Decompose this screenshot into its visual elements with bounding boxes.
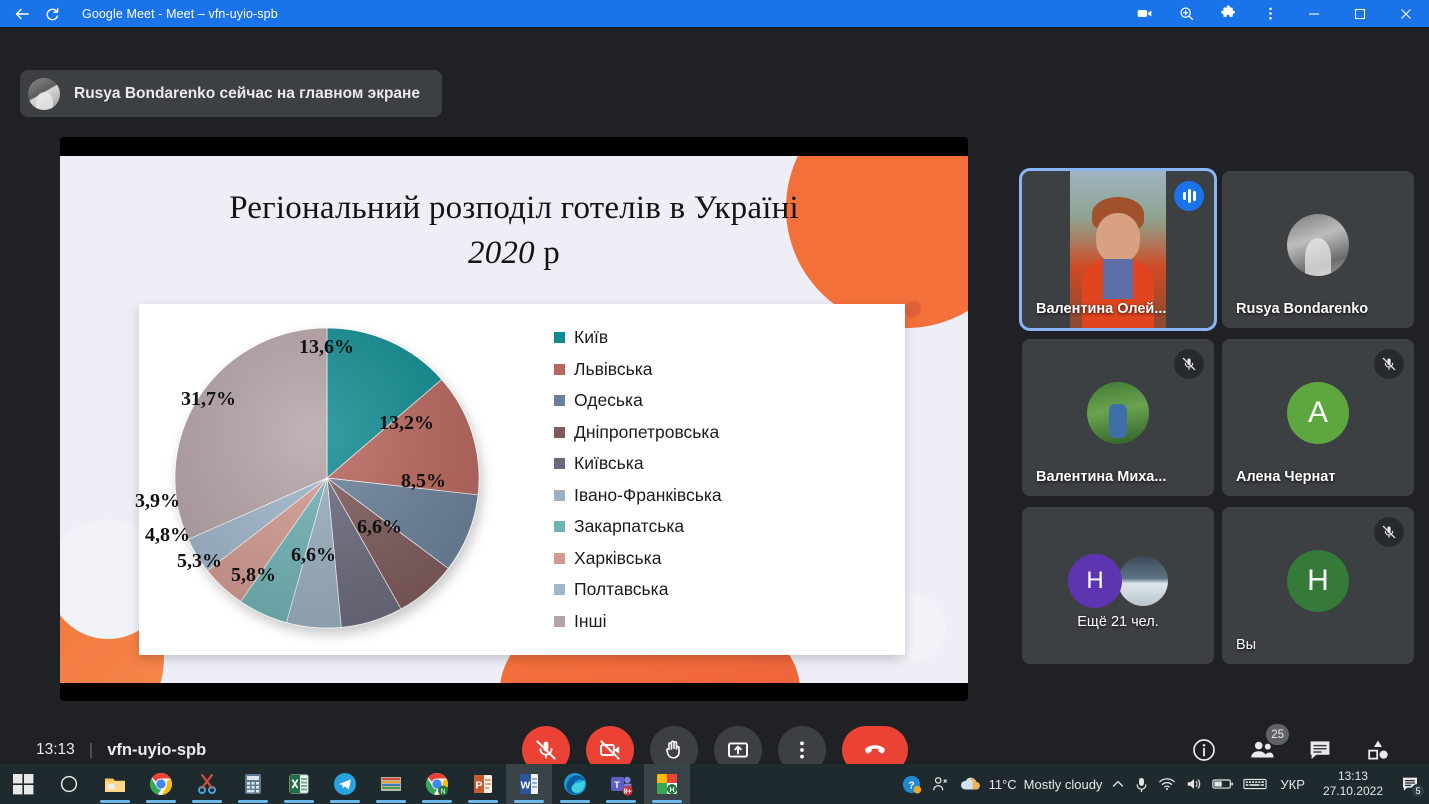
microsoft-word[interactable]: W — [506, 764, 552, 804]
taskbar-apps: N P W T9+ Н — [0, 764, 690, 804]
legend-label: Дніпропетровська — [574, 422, 719, 443]
file-explorer[interactable] — [92, 764, 138, 804]
svg-text:P: P — [475, 779, 482, 791]
avatar — [1118, 556, 1168, 606]
battery-icon[interactable] — [1212, 777, 1234, 791]
participants-count-badge: 25 — [1266, 724, 1289, 745]
pie-chart-legend: Київ Львівська Одеська Дніпропетровська … — [554, 322, 874, 637]
legend-swatch — [554, 364, 565, 375]
weather-description: Mostly cloudy — [1024, 777, 1103, 792]
browser-title-bar: Google Meet - Meet – vfn-uyio-spb — [0, 0, 1429, 27]
input-language[interactable]: УКР — [1276, 777, 1309, 792]
participant-tile-you[interactable]: Н Вы — [1222, 507, 1414, 664]
legend-swatch — [554, 490, 565, 501]
pie-value-label-zakarpatska: 5,3% — [177, 550, 222, 573]
participant-name: Rusya Bondarenko — [1236, 301, 1368, 317]
google-meet[interactable]: Н — [644, 764, 690, 804]
mic-off-icon — [1374, 517, 1404, 547]
slide-title-year: 2020 — [468, 235, 535, 271]
microsoft-powerpoint[interactable]: P — [460, 764, 506, 804]
video-head — [1096, 213, 1140, 263]
pie-value-label-dnipro: 6,6% — [357, 516, 402, 539]
participant-tile-valentina-oley[interactable]: Валентина Олей... — [1022, 171, 1214, 328]
svg-text:T: T — [614, 780, 620, 790]
notifications-button[interactable]: 5 — [1397, 769, 1423, 799]
decorative-dot-orange — [905, 301, 921, 317]
weather-widget[interactable]: 11°C Mostly cloudy — [958, 775, 1103, 793]
svg-text:W: W — [521, 779, 531, 791]
activities-button[interactable] — [1361, 733, 1395, 767]
legend-swatch — [554, 521, 565, 532]
maximize-button[interactable] — [1337, 0, 1383, 27]
presenting-banner: Rusya Bondarenko сейчас на главном экран… — [20, 70, 442, 117]
pie-value-label-ivano: 5,8% — [231, 564, 276, 587]
legend-label: Одеська — [574, 390, 643, 411]
microsoft-teams[interactable]: T9+ — [598, 764, 644, 804]
pie-chart-card: 13,6% 13,2% 8,5% 6,6% 6,6% 5,8% 5,3% 4,8… — [139, 304, 905, 655]
reload-icon[interactable] — [44, 6, 60, 22]
avatar — [1287, 214, 1349, 276]
telegram[interactable] — [322, 764, 368, 804]
avatar — [28, 78, 60, 110]
pie-chart: 13,6% 13,2% 8,5% 6,6% 6,6% 5,8% 5,3% 4,8… — [157, 308, 517, 652]
legend-swatch — [554, 553, 565, 564]
participant-tile-more-people[interactable]: Н Ещё 21 чел. — [1022, 507, 1214, 664]
participant-tile-valentina-mikha[interactable]: Валентина Миха... — [1022, 339, 1214, 496]
pie-value-label-inshi: 31,7% — [181, 388, 236, 411]
legend-label: Закарпатська — [574, 516, 684, 537]
weather-temperature: 11°C — [989, 777, 1017, 792]
help-icon[interactable]: ? — [901, 774, 922, 795]
legend-item: Харківська — [554, 543, 874, 575]
participant-name: Алена Чернат — [1236, 469, 1335, 485]
legend-label: Інші — [574, 611, 606, 632]
legend-item: Івано-Франківська — [554, 480, 874, 512]
microphone-icon[interactable] — [1134, 776, 1149, 793]
participants-button[interactable]: 25 — [1245, 733, 1279, 767]
svg-text:N: N — [440, 788, 445, 795]
mic-off-icon — [1174, 349, 1204, 379]
keyboard-icon[interactable] — [1243, 777, 1267, 791]
legend-item: Київська — [554, 448, 874, 480]
people-icon[interactable] — [931, 775, 949, 793]
participant-name: Валентина Миха... — [1036, 469, 1166, 485]
chrome-profile-n[interactable]: N — [414, 764, 460, 804]
pie-value-label-kyivska: 6,6% — [291, 544, 336, 567]
pie-value-label-kharkivska: 4,8% — [145, 524, 190, 547]
notification-count-badge: 5 — [1411, 784, 1425, 798]
legend-item: Львівська — [554, 354, 874, 386]
system-tray: ? 11°C Mostly cloudy — [901, 769, 1429, 799]
presentation-slide: Регіональний розподіл готелів в Україні … — [60, 156, 968, 683]
meet-window: Google Meet - Meet – vfn-uyio-spb — [0, 0, 1429, 804]
pie-value-label-kyiv: 13,6% — [299, 336, 354, 359]
volume-icon[interactable] — [1185, 776, 1203, 792]
avatar-initial: Н — [1086, 567, 1103, 595]
microsoft-excel[interactable] — [276, 764, 322, 804]
calculator[interactable] — [230, 764, 276, 804]
avatar — [1087, 382, 1149, 444]
page-title: Регіональний розподіл готелів в Україні … — [60, 186, 968, 275]
participant-tile-rusya-bondarenko[interactable]: Rusya Bondarenko — [1222, 171, 1414, 328]
pie-value-label-odeska: 8,5% — [401, 470, 446, 493]
start-button[interactable] — [0, 764, 46, 804]
slide-title-line1: Регіональний розподіл готелів в Україні — [229, 190, 799, 226]
snipping-tool[interactable] — [184, 764, 230, 804]
video-scarf — [1103, 259, 1133, 299]
legend-item: Одеська — [554, 385, 874, 417]
cloud-icon — [958, 775, 982, 793]
cast-icon[interactable] — [1123, 0, 1165, 27]
meeting-details-button[interactable] — [1187, 733, 1221, 767]
legend-swatch — [554, 616, 565, 627]
more-participants-label: Ещё 21 чел. — [1077, 614, 1158, 630]
legend-label: Івано-Франківська — [574, 485, 722, 506]
slide-title-suffix: р — [543, 235, 560, 271]
svg-text:9+: 9+ — [624, 788, 632, 795]
avatar-initial: A — [1308, 396, 1328, 430]
extensions-icon[interactable] — [1207, 0, 1249, 27]
legend-item: Полтавська — [554, 574, 874, 606]
speaking-indicator-icon — [1174, 181, 1204, 211]
legend-swatch — [554, 332, 565, 343]
microsoft-edge[interactable] — [552, 764, 598, 804]
legend-swatch — [554, 458, 565, 469]
svg-text:Н: Н — [669, 787, 674, 794]
back-arrow-icon[interactable] — [14, 6, 30, 22]
chat-button[interactable] — [1303, 733, 1337, 767]
participant-name: Вы — [1236, 637, 1256, 653]
clock-date: 27.10.2022 — [1323, 784, 1383, 799]
meet-main-area: Rusya Bondarenko сейчас на главном экран… — [0, 27, 1429, 758]
clock-time: 13:13 — [1323, 769, 1383, 784]
more-menu-icon[interactable] — [1249, 0, 1291, 27]
legend-label: Львівська — [574, 359, 653, 380]
avatar-stack: Н — [1068, 554, 1168, 608]
legend-item: Київ — [554, 322, 874, 354]
pie-chart-svg — [157, 314, 497, 646]
legend-swatch — [554, 395, 565, 406]
avatar: Н — [1068, 554, 1122, 608]
legend-label: Київська — [574, 453, 644, 474]
taskbar-clock[interactable]: 13:13 27.10.2022 — [1318, 769, 1388, 799]
presentation-stage[interactable]: Регіональний розподіл готелів в Україні … — [60, 137, 968, 701]
chevron-up-icon[interactable] — [1111, 777, 1125, 791]
legend-item: Закарпатська — [554, 511, 874, 543]
legend-label: Київ — [574, 327, 608, 348]
winrar[interactable] — [368, 764, 414, 804]
participant-tile-alena-chernat[interactable]: A Алена Чернат — [1222, 339, 1414, 496]
legend-label: Харківська — [574, 548, 661, 569]
google-chrome[interactable] — [138, 764, 184, 804]
pie-value-label-poltavska: 3,9% — [135, 490, 180, 513]
legend-swatch — [554, 584, 565, 595]
close-button[interactable] — [1383, 0, 1429, 27]
legend-item: Інші — [554, 606, 874, 638]
search-button[interactable] — [46, 764, 92, 804]
legend-label: Полтавська — [574, 579, 668, 600]
windows-taskbar: N P W T9+ Н ? — [0, 764, 1429, 804]
pie-value-label-lvivska: 13,2% — [379, 412, 434, 435]
legend-item: Дніпропетровська — [554, 417, 874, 449]
zoom-search-icon[interactable] — [1165, 0, 1207, 27]
avatar: A — [1287, 382, 1349, 444]
participant-name: Валентина Олей... — [1036, 301, 1166, 317]
participant-tile-grid: Валентина Олей... Rusya Bondarenko Вален… — [1022, 171, 1414, 675]
wifi-icon[interactable] — [1158, 776, 1176, 792]
window-title: Google Meet - Meet – vfn-uyio-spb — [82, 7, 278, 21]
avatar: Н — [1287, 550, 1349, 612]
mic-off-icon — [1374, 349, 1404, 379]
avatar-initial: Н — [1307, 564, 1329, 598]
legend-swatch — [554, 427, 565, 438]
minimize-button[interactable] — [1291, 0, 1337, 27]
presenting-banner-text: Rusya Bondarenko сейчас на главном экран… — [74, 85, 420, 103]
